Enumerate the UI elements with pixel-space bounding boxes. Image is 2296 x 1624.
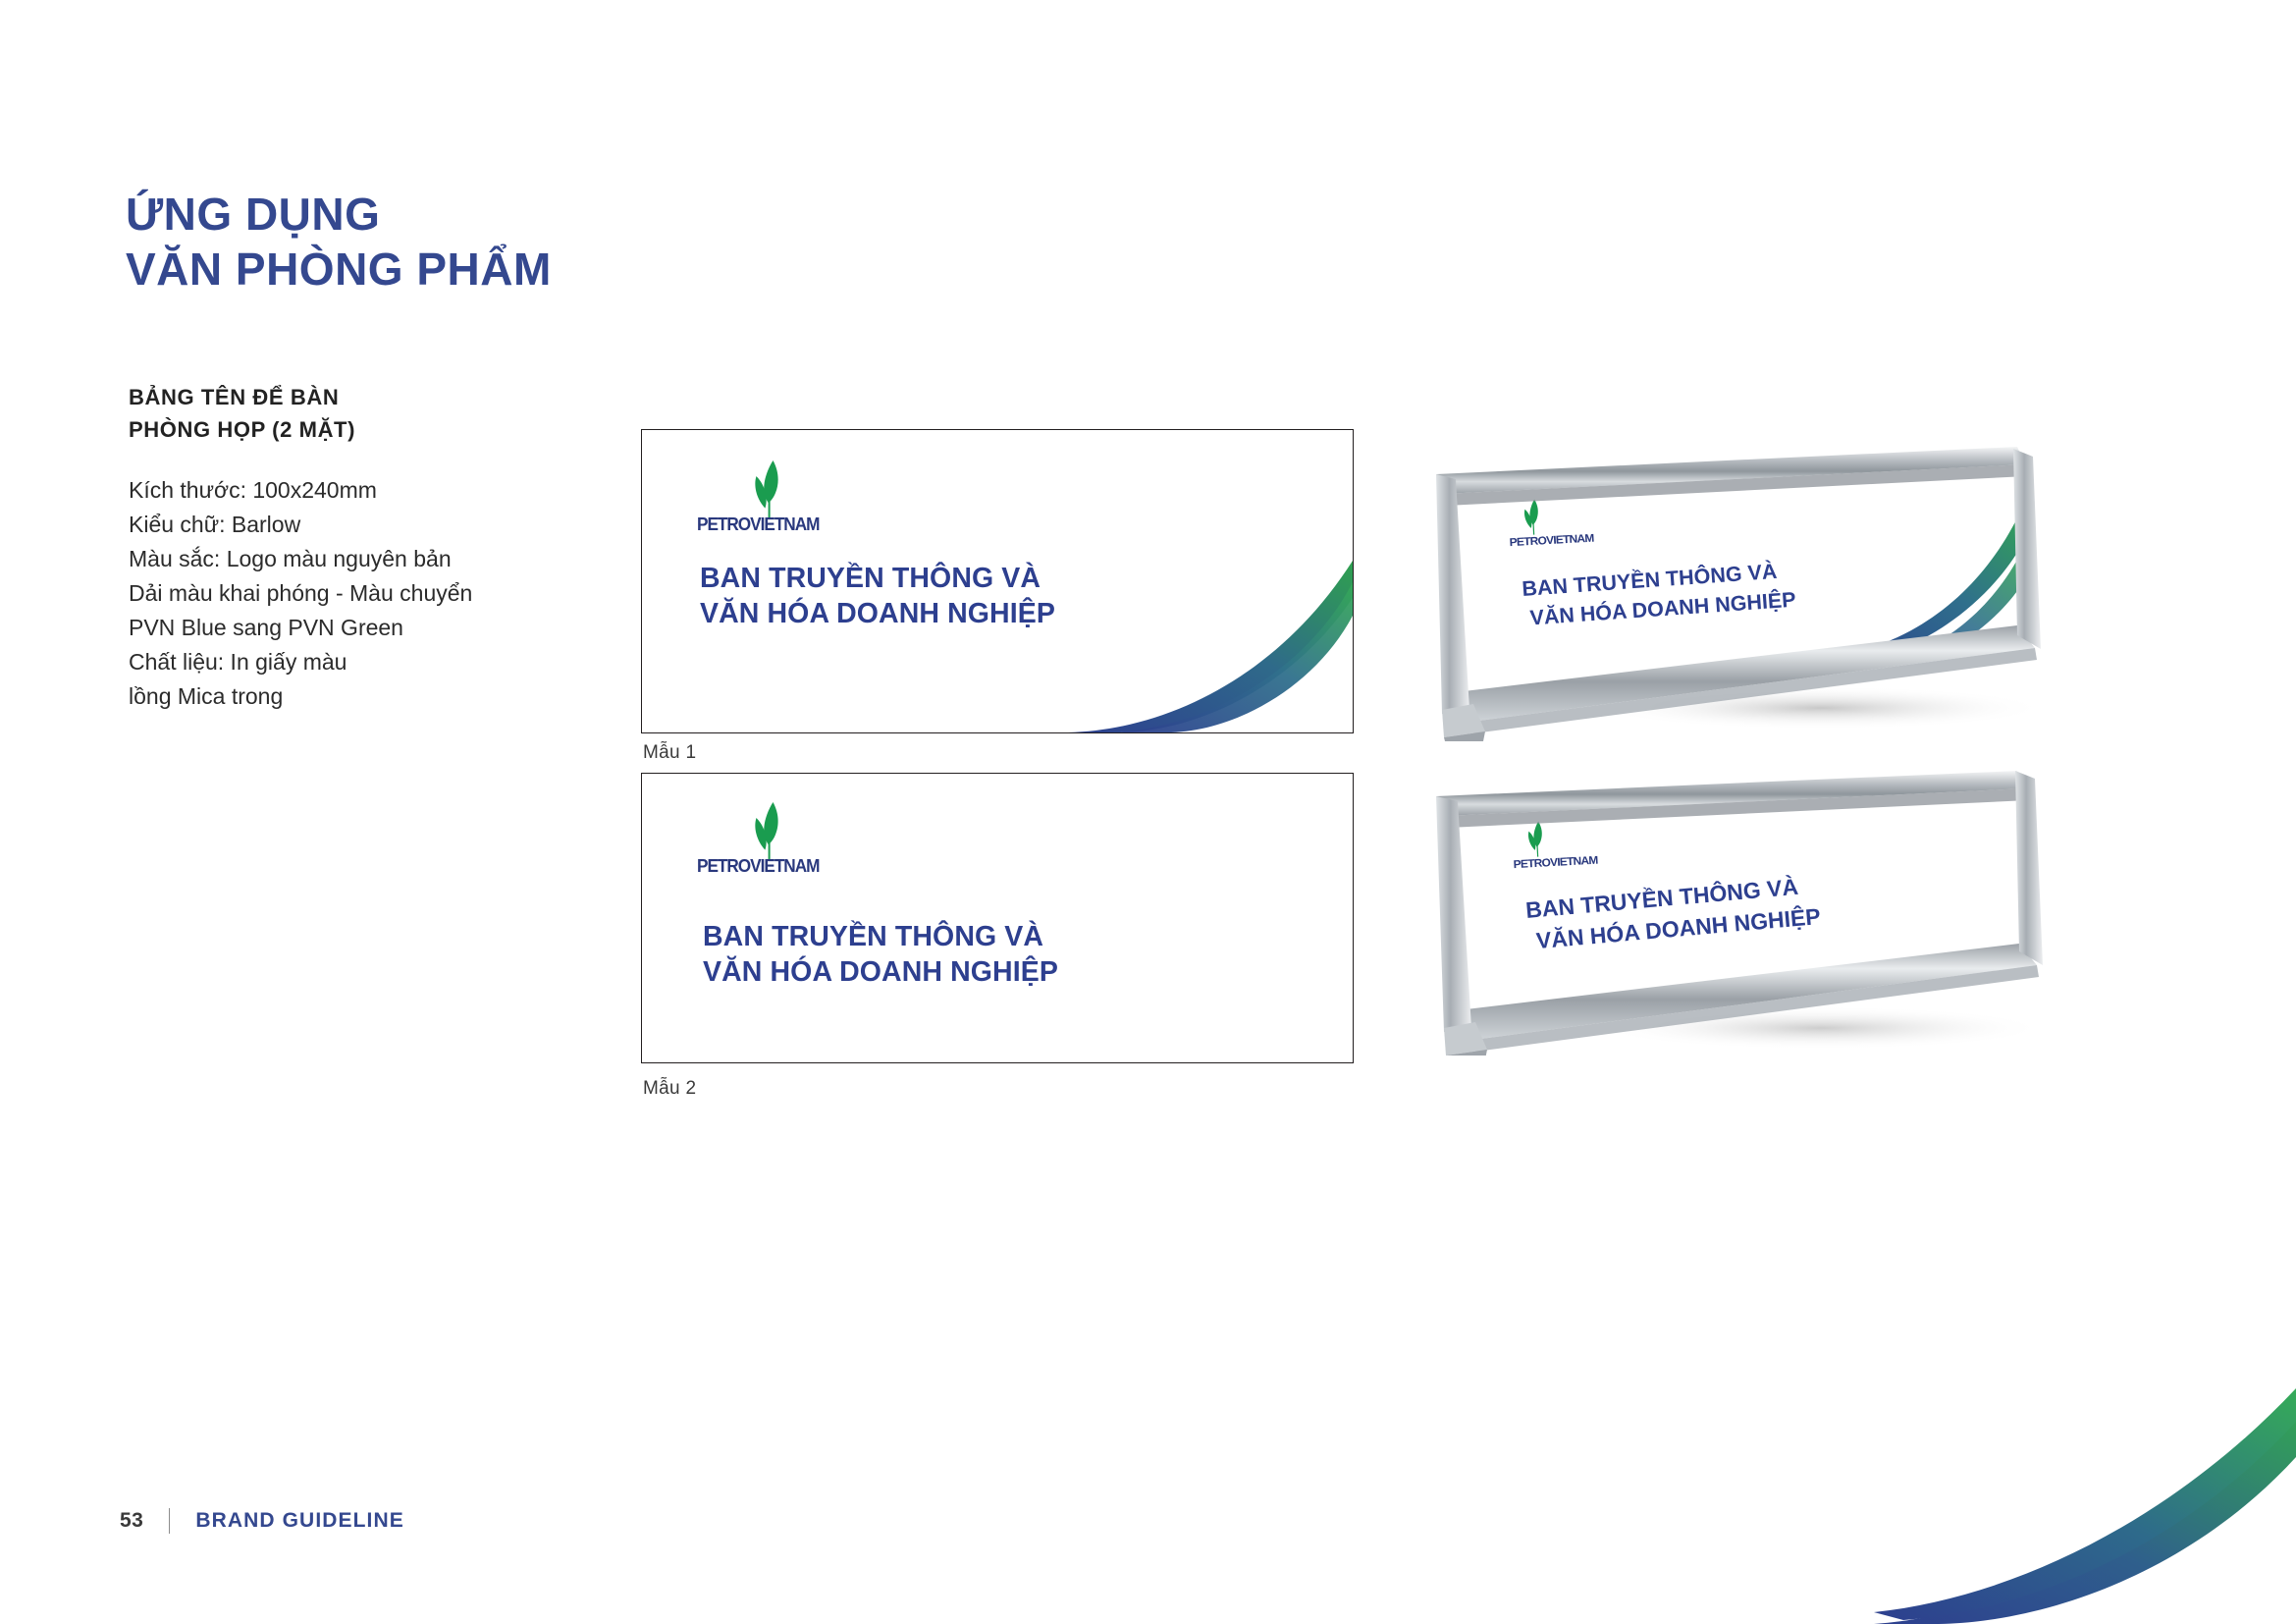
desk-nameplate-mockup-2: PETROVIETNAM BAN TRUYỀN THÔNG VÀ VĂN HÓA… [1428,761,2115,1056]
page-canvas: ỨNG DỤNG VĂN PHÒNG PHẨM BẢNG TÊN ĐỂ BÀN … [0,0,2296,1624]
petrovietnam-logo-1: PETROVIETNAM [697,460,846,535]
sample-card-2: PETROVIETNAM BAN TRUYỀN THÔNG VÀ VĂN HÓA… [641,773,1354,1063]
swoosh-graphic-1 [1029,521,1353,732]
footer-brand-label: BRAND GUIDELINE [195,1509,404,1533]
spec-column: BẢNG TÊN ĐỂ BÀN PHÒNG HỌP (2 MẶT) Kích t… [129,381,590,714]
spec-heading: BẢNG TÊN ĐỂ BÀN PHÒNG HỌP (2 MẶT) [129,381,590,446]
logo-wordmark: PETROVIETNAM [697,514,835,535]
footer-divider [169,1508,170,1534]
flame-icon [740,801,797,862]
nameplate-text-2: BAN TRUYỀN THÔNG VÀ VĂN HÓA DOANH NGHIỆP [703,919,1058,991]
sample-caption-1: Mẫu 1 [643,742,696,764]
corner-swoosh-graphic [1874,1388,2296,1624]
petrovietnam-logo-2: PETROVIETNAM [697,801,846,877]
desk-nameplate-mockup-1: PETROVIETNAM BAN TRUYỀN THÔNG VÀ VĂN HÓA… [1428,447,2115,741]
logo-wordmark: PETROVIETNAM [697,855,835,877]
spec-detail-list: Kích thước: 100x240mm Kiểu chữ: Barlow M… [129,473,590,714]
sample-card-1: PETROVIETNAM BAN TRUYỀN THÔNG VÀ VĂN HÓA… [641,429,1354,733]
sample-caption-2: Mẫu 2 [643,1078,696,1100]
page-number: 53 [120,1509,143,1533]
footer: 53 BRAND GUIDELINE [120,1508,404,1534]
nameplate-text-1: BAN TRUYỀN THÔNG VÀ VĂN HÓA DOANH NGHIỆP [700,561,1055,632]
page-title: ỨNG DỤNG VĂN PHÒNG PHẨM [126,187,552,297]
flame-icon [740,460,797,520]
